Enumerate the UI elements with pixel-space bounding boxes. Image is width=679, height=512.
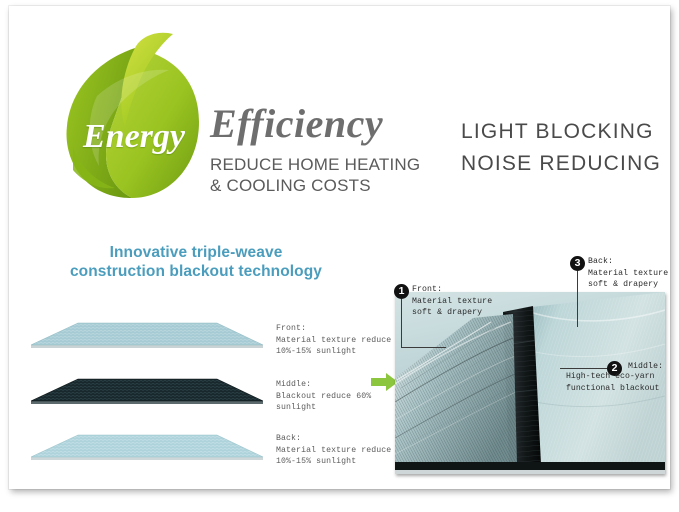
callout-badge-1: 1	[394, 284, 409, 299]
infographic-card: Energy Efficiency REDUCE HOME HEATING & …	[9, 6, 670, 489]
callout-badge-3: 3	[570, 256, 585, 271]
callout-back-leader-vertical	[577, 271, 578, 327]
layer-front-detail1: Material texture reduce	[276, 335, 391, 347]
layer-front-detail2: 10%-15% sunlight	[276, 346, 391, 358]
callout-back-detail1: Material texture	[588, 268, 668, 280]
layer-back-heading: Back:	[276, 433, 391, 445]
section-title: Innovative triple-weave construction bla…	[31, 243, 361, 281]
callout-front: 1 Front: Material texture soft & drapery	[394, 284, 492, 319]
callout-middle-detail2: functional blackout	[566, 383, 663, 395]
headline-subtitle: REDUCE HOME HEATING & COOLING COSTS	[210, 154, 450, 196]
product-claims: LIGHT BLOCKING NOISE REDUCING	[461, 116, 661, 180]
layer-shape-back	[31, 433, 263, 463]
layer-label-middle: Middle: Blackout reduce 60% sunlight	[276, 379, 371, 414]
layer-diagram: Front: Material texture reduce 10%-15% s…	[31, 321, 271, 476]
callout-front-text: Front: Material texture soft & drapery	[412, 284, 492, 319]
callout-front-heading: Front:	[412, 284, 492, 296]
callout-middle-detail1: High-tech eco-yarn	[566, 371, 663, 383]
green-leaf-drop-icon	[57, 30, 207, 205]
callout-middle: 2 Middle: High-tech eco-yarn functional …	[607, 361, 663, 394]
energy-logo: Energy	[57, 30, 207, 205]
layer-shape-middle	[31, 377, 263, 407]
callout-front-leader-vertical	[401, 299, 402, 347]
callout-front-leader-horizontal	[401, 347, 446, 348]
callout-middle-details: High-tech eco-yarn functional blackout	[566, 371, 663, 394]
callout-back: 3 Back: Material texture soft & drapery	[570, 256, 668, 291]
layer-back-detail1: Material texture reduce	[276, 445, 391, 457]
claim-light-blocking: LIGHT BLOCKING	[461, 116, 661, 148]
layer-back-detail2: 10%-15% sunlight	[276, 456, 391, 468]
callout-back-text: Back: Material texture soft & drapery	[588, 256, 668, 291]
callout-front-detail1: Material texture	[412, 296, 492, 308]
claim-noise-reducing: NOISE REDUCING	[461, 148, 661, 180]
layer-label-back: Back: Material texture reduce 10%-15% su…	[276, 433, 391, 468]
layer-label-front: Front: Material texture reduce 10%-15% s…	[276, 323, 391, 358]
callout-front-detail2: soft & drapery	[412, 307, 492, 319]
layer-front-heading: Front:	[276, 323, 391, 335]
section-title-line2: construction blackout technology	[31, 262, 361, 281]
infographic-canvas: Energy Efficiency REDUCE HOME HEATING & …	[0, 0, 679, 512]
layer-middle-detail2: sunlight	[276, 402, 371, 414]
layer-shape-front	[31, 321, 263, 351]
headline-subtitle-line2: & COOLING COSTS	[210, 175, 450, 196]
page-title: Efficiency	[210, 102, 450, 146]
section-title-line1: Innovative triple-weave	[31, 243, 361, 262]
layer-middle-heading: Middle:	[276, 379, 371, 391]
headline-subtitle-line1: REDUCE HOME HEATING	[210, 154, 450, 175]
headline-block: Efficiency REDUCE HOME HEATING & COOLING…	[210, 102, 450, 196]
callout-back-detail2: soft & drapery	[588, 279, 668, 291]
layer-middle-detail1: Blackout reduce 60%	[276, 391, 371, 403]
callout-middle-leader-horizontal	[560, 368, 607, 369]
callout-back-heading: Back:	[588, 256, 668, 268]
